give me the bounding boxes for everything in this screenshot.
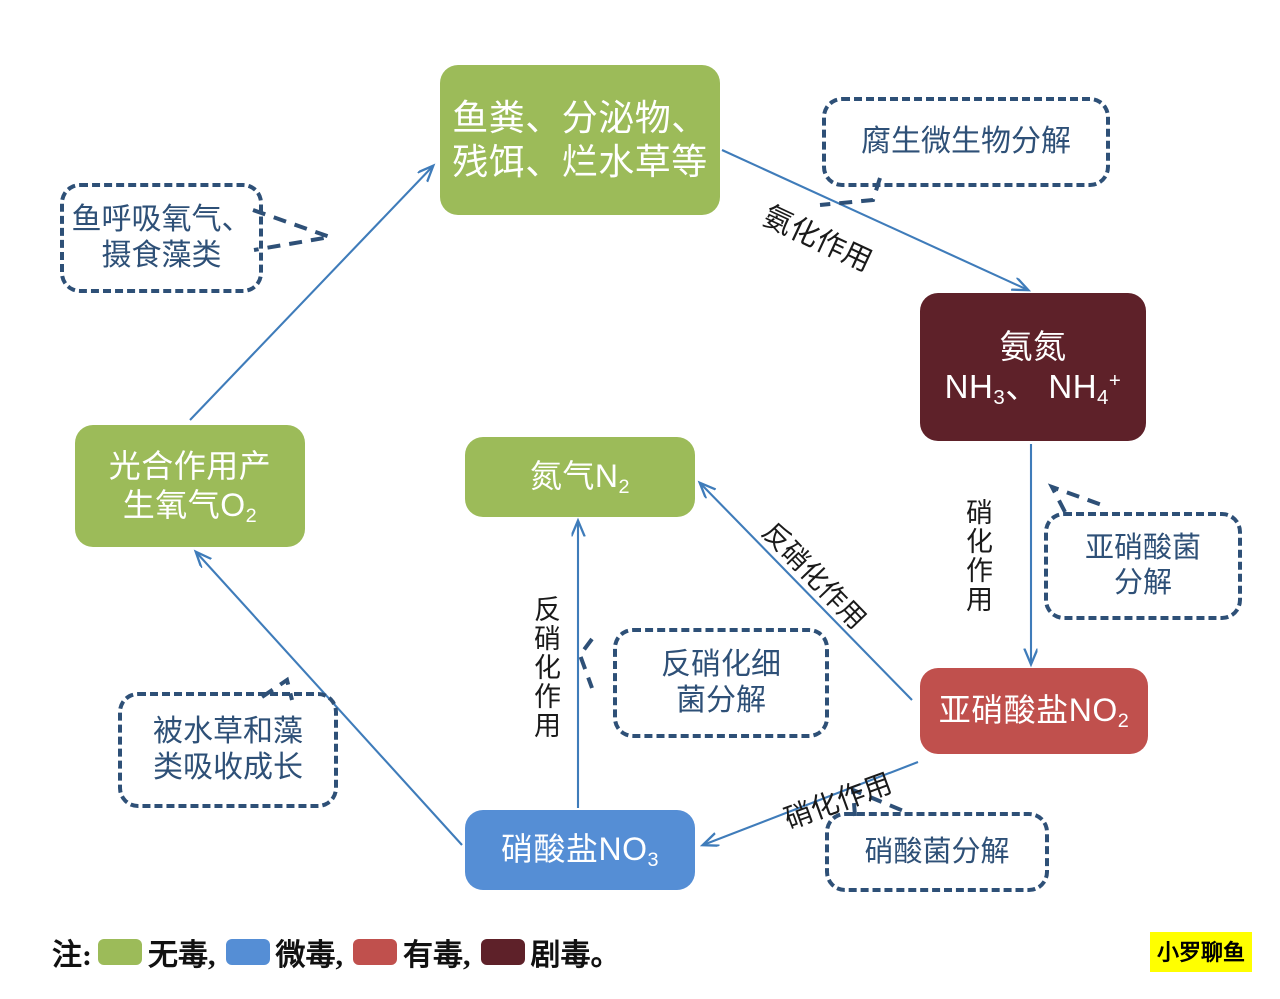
node-nitrogen-gas[interactable]: 氮气N2 — [465, 437, 695, 517]
edge-label-nitrification-right: 硝化作用 — [963, 498, 990, 614]
callout-fish-respiration-line2: 摄食藻类 — [102, 239, 222, 272]
node-ammonia-formula: NH3、 NH4+ — [945, 368, 1122, 405]
legend: 注: 无毒, 微毒, 有毒, 剧毒。 — [52, 930, 625, 974]
callout-plant-absorb[interactable]: 被水草和藻 类吸收成长 — [118, 692, 338, 808]
callout-denitrifying-line2: 菌分解 — [676, 684, 766, 717]
node-waste-line2: 残饵、烂水草等 — [452, 141, 708, 182]
node-photosynthesis[interactable]: 光合作用产 生氧气O2 — [75, 425, 305, 547]
legend-label-nontoxic: 无毒, — [148, 930, 216, 974]
legend-label-slightly-toxic: 微毒, — [276, 930, 344, 974]
watermark: 小罗聊鱼 — [1150, 932, 1252, 972]
legend-swatch-nontoxic — [98, 939, 142, 965]
diagram-canvas: 鱼粪、分泌物、 残饵、烂水草等 氨氮 NH3、 NH4+ 光合作用产 生氧气O2… — [0, 0, 1280, 999]
node-ammonia[interactable]: 氨氮 NH3、 NH4+ — [920, 293, 1146, 441]
node-nitrate[interactable]: 硝酸盐NO3 — [465, 810, 695, 890]
legend-swatch-highly-toxic — [481, 939, 525, 965]
node-nitrogen-gas-label: 氮气N2 — [530, 458, 630, 494]
node-nitrate-label: 硝酸盐NO3 — [501, 831, 659, 867]
callout-nitrosomonas-decompose[interactable]: 亚硝酸菌 分解 — [1044, 512, 1242, 620]
callout-saprophyte-line1: 腐生微生物分解 — [861, 125, 1071, 158]
node-nitrite-label: 亚硝酸盐NO2 — [939, 692, 1130, 728]
callout-nitrosomonas-line2: 分解 — [1114, 567, 1172, 599]
callout-plant-absorb-line2: 类吸收成长 — [153, 751, 303, 784]
callout-nitrosomonas-line1: 亚硝酸菌 — [1085, 532, 1201, 564]
callout-denitrifying-line1: 反硝化细 — [661, 648, 781, 681]
node-photosynthesis-line1: 光合作用产 — [109, 448, 272, 484]
node-waste[interactable]: 鱼粪、分泌物、 残饵、烂水草等 — [440, 65, 720, 215]
node-photosynthesis-line2: 生氧气O2 — [123, 487, 257, 523]
callout-plant-absorb-line1: 被水草和藻 — [153, 715, 303, 748]
callout-nitrobacter-line1: 硝酸菌分解 — [864, 836, 1009, 868]
callout-fish-respiration-line1: 鱼呼吸氧气、 — [72, 203, 252, 236]
legend-swatch-slightly-toxic — [226, 939, 270, 965]
node-ammonia-line1: 氨氮 — [999, 328, 1066, 365]
node-waste-line1: 鱼粪、分泌物、 — [452, 97, 708, 138]
edge-label-denitrification-vertical: 反硝化作用 — [531, 595, 558, 740]
legend-label-highly-toxic: 剧毒。 — [531, 930, 621, 974]
callout-nitrobacter-decompose[interactable]: 硝酸菌分解 — [825, 812, 1049, 892]
legend-prefix: 注: — [52, 930, 92, 974]
callout-denitrifying-bacteria[interactable]: 反硝化细 菌分解 — [613, 628, 829, 738]
node-nitrite[interactable]: 亚硝酸盐NO2 — [920, 668, 1148, 754]
callout-fish-respiration[interactable]: 鱼呼吸氧气、 摄食藻类 — [60, 183, 263, 293]
callout-saprophyte-decompose[interactable]: 腐生微生物分解 — [822, 97, 1110, 187]
legend-label-toxic: 有毒, — [403, 930, 471, 974]
legend-swatch-toxic — [353, 939, 397, 965]
